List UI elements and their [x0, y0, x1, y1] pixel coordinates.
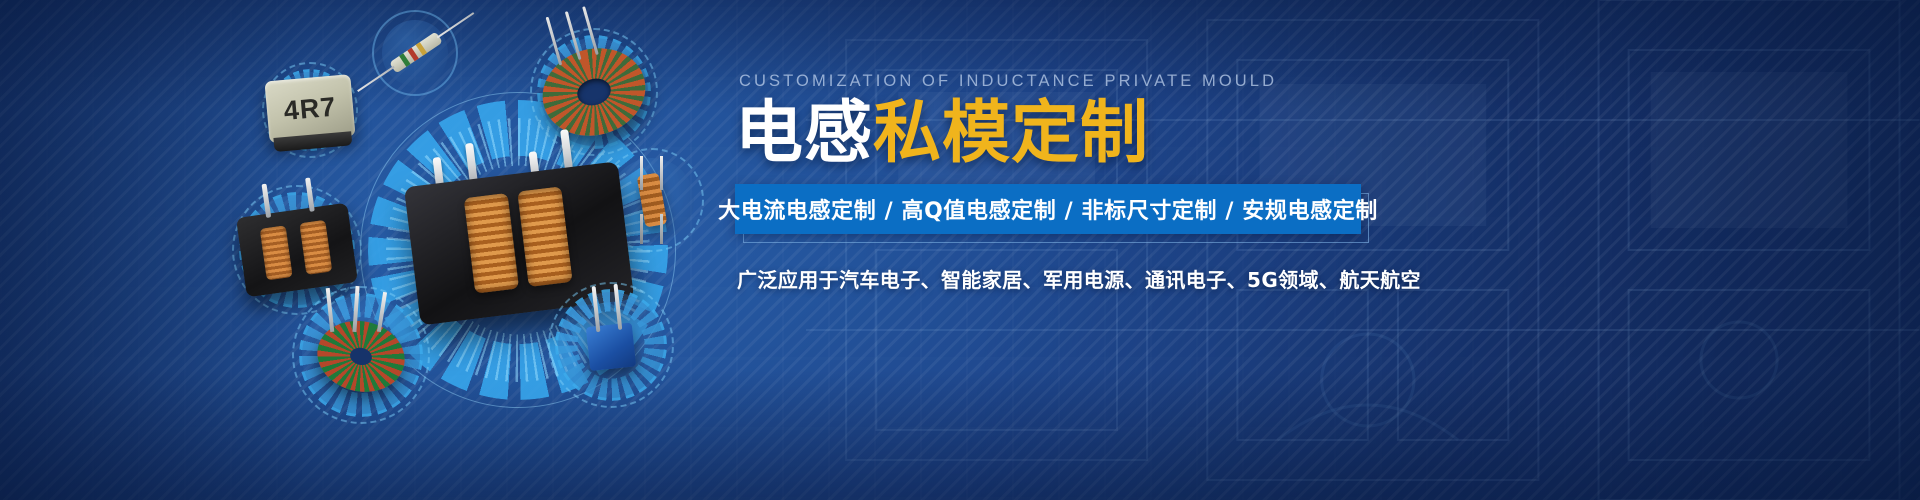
flat-wire-choke-body — [236, 203, 358, 298]
color-band — [399, 53, 410, 67]
feature-bar-wrapper: 大电流电感定制 / 高Q值电感定制 / 非标尺寸定制 / 安规电感定制 — [735, 184, 1361, 234]
copper-winding — [260, 225, 293, 280]
lead-wire — [640, 156, 643, 190]
headline-gold-part: 私模定制 — [873, 94, 1149, 173]
lead-wire — [660, 214, 663, 244]
inductance-custom-mould-banner: 4R7 — [0, 0, 1920, 500]
english-tagline: CUSTOMIZATION OF INDUCTANCE PRIVATE MOUL… — [739, 72, 1435, 91]
product-bubble-smd-power-inductor: 4R7 — [262, 62, 358, 158]
banner-text-block: CUSTOMIZATION OF INDUCTANCE PRIVATE MOUL… — [735, 72, 1435, 293]
headline-white-part: 电感 — [735, 94, 873, 173]
color-band — [416, 42, 427, 56]
application-description: 广泛应用于汽车电子、智能家居、军用电源、通讯电子、5G领域、航天航空 — [737, 264, 1435, 293]
blue-epoxy-body — [586, 322, 636, 371]
product-showcase-cluster: 4R7 — [0, 0, 730, 500]
lead-wire — [640, 214, 643, 244]
copper-winding — [299, 220, 332, 275]
product-bubble-toroidal-common-mode-choke — [530, 28, 658, 156]
product-bubble-green-toroidal-inductor — [292, 286, 430, 424]
smd-inductor-label: 4R7 — [264, 74, 355, 143]
lead-wire — [660, 156, 663, 190]
page-title: 电感私模定制 — [735, 97, 1435, 170]
color-band — [407, 48, 418, 62]
feature-bar[interactable]: 大电流电感定制 / 高Q值电感定制 / 非标尺寸定制 / 安规电感定制 — [735, 184, 1361, 234]
product-bubble-axial-lead-inductor — [372, 10, 458, 96]
product-bubble-blue-epoxy-inductor — [548, 282, 674, 408]
